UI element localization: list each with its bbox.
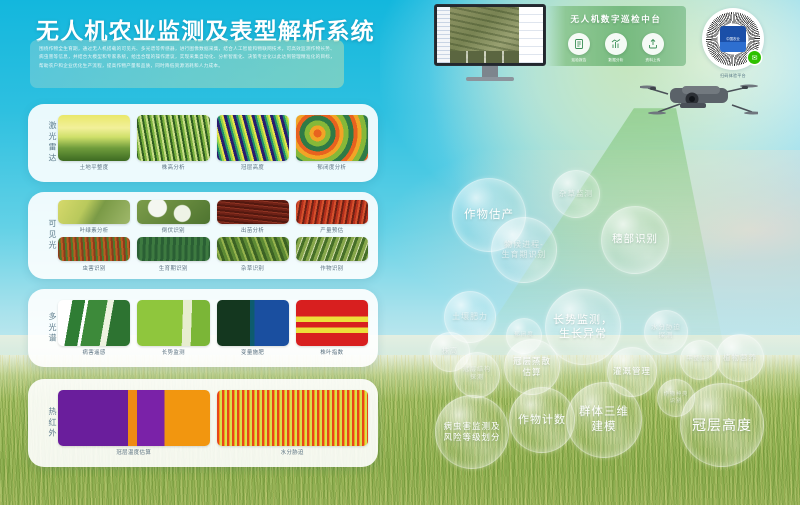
tile[interactable]: 水分胁迫 bbox=[217, 390, 369, 457]
app-sidebar bbox=[437, 7, 450, 63]
bubble-capability[interactable]: 群体三维 建模 bbox=[566, 382, 642, 458]
tile[interactable]: 土地平整度 bbox=[58, 115, 130, 172]
tile[interactable]: 株高分析 bbox=[137, 115, 209, 172]
bubble-capability[interactable]: 平整监测 bbox=[680, 340, 720, 380]
desktop-monitor bbox=[434, 4, 546, 81]
qr-center-logo: 中国农业 bbox=[720, 26, 746, 52]
banner-title: 无人机数字巡检中台 bbox=[571, 13, 662, 25]
bubble-capability[interactable]: 物候进程- 生育期识别 bbox=[491, 217, 557, 283]
tile[interactable]: 叶绿素分析 bbox=[58, 200, 130, 235]
bubble-capability[interactable]: 杂草监测 bbox=[552, 170, 600, 218]
banner-item-label: 资料上传 bbox=[645, 58, 660, 63]
tile[interactable]: 变量施肥 bbox=[217, 300, 289, 357]
thumbnail-image bbox=[296, 300, 368, 346]
bubble-capability[interactable]: 冠层高度 bbox=[680, 383, 764, 467]
tile-caption: 长势监测 bbox=[162, 348, 185, 356]
banner-icon-row: 巡检报告 数据分析 bbox=[565, 33, 667, 63]
monitor-stand-neck bbox=[482, 66, 498, 77]
banner-item-label: 巡检报告 bbox=[571, 58, 586, 63]
report-icon bbox=[568, 33, 590, 55]
tile[interactable]: 生育期识别 bbox=[137, 237, 209, 272]
bubble-label: 水分胁迫 探测 bbox=[651, 324, 681, 341]
tile-caption: 郁闭度分析 bbox=[317, 163, 346, 171]
tile-caption: 变量施肥 bbox=[241, 348, 264, 356]
thumbnail-image bbox=[58, 300, 130, 346]
bubble-capability[interactable]: 水分胁迫 探测 bbox=[644, 310, 688, 354]
panel-label: 多光谱 bbox=[28, 312, 58, 344]
bubble-capability[interactable]: 病虫害监测及 风险等级划分 bbox=[435, 395, 509, 469]
tile-row: 虫害识别 生育期识别 杂草识别 作物识别 bbox=[58, 237, 368, 272]
aerial-map-view bbox=[450, 7, 519, 63]
bubble-capability[interactable]: 植物营养 bbox=[716, 334, 764, 382]
tile-caption: 土地平整度 bbox=[80, 163, 109, 171]
thumbnail-image bbox=[137, 115, 209, 161]
banner-item-report[interactable]: 巡检报告 bbox=[565, 33, 593, 63]
thumbnail-image bbox=[296, 237, 368, 261]
tile-caption: 水分胁迫 bbox=[281, 448, 304, 456]
banner-item-label: 数据分析 bbox=[608, 58, 623, 63]
tile[interactable]: 长势监测 bbox=[137, 300, 209, 357]
panel-thermal-infrared[interactable]: 热红外 冠层温度估算 水分胁迫 bbox=[28, 379, 378, 467]
thumbnail-image bbox=[217, 200, 289, 224]
tile-row: 病害遥感 长势监测 变量施肥 株叶指数 bbox=[58, 300, 368, 357]
bubble-capability[interactable]: 穗部识别 bbox=[601, 206, 669, 274]
thumbnail-image bbox=[58, 390, 210, 446]
tile[interactable]: 冠层高度 bbox=[217, 115, 289, 172]
tile-caption: 作物识别 bbox=[320, 264, 343, 272]
tile-row: 叶绿素分析 倒伏识别 出苗分析 产量预估 bbox=[58, 200, 368, 235]
bubble-label: 穗部识别 bbox=[612, 233, 658, 247]
tile-caption: 冠层温度估算 bbox=[116, 448, 151, 456]
bubble-label: 植物营养 bbox=[723, 353, 757, 363]
bubble-capability[interactable]: 冠层蒸散 估算 bbox=[504, 339, 560, 395]
banner-item-analysis[interactable]: 数据分析 bbox=[602, 33, 630, 63]
tile[interactable]: 冠层温度估算 bbox=[58, 390, 210, 457]
panel-label: 激光雷达 bbox=[28, 121, 58, 164]
tile-caption: 出苗分析 bbox=[241, 226, 264, 234]
bubble-label: 冠层蒸散 估算 bbox=[513, 356, 551, 378]
bubble-label: 长势监测， 生长异常 bbox=[553, 313, 613, 342]
tile-caption: 生育期识别 bbox=[159, 264, 188, 272]
tile-row: 冠层温度估算 水分胁迫 bbox=[58, 390, 368, 457]
tile-caption: 病害遥感 bbox=[83, 348, 106, 356]
banner-item-upload[interactable]: 资料上传 bbox=[639, 33, 667, 63]
wechat-badge-icon: ✉ bbox=[748, 51, 761, 64]
bubble-capability[interactable]: 冠层结构 探测 bbox=[454, 352, 500, 398]
poster-canvas: 无人机农业监测及表型解析系统 围绕作物全生育期，通过无人机搭载的可见光、多光谱等… bbox=[0, 0, 800, 505]
upload-icon bbox=[642, 33, 664, 55]
chart-icon bbox=[605, 33, 627, 55]
qr-code-disc: 中国农业 ✉ bbox=[702, 8, 764, 70]
bubble-label: 作物种类 识别 bbox=[664, 391, 689, 405]
bubble-label: 灌溉管理 bbox=[613, 366, 651, 377]
tile[interactable]: 郁闭度分析 bbox=[296, 115, 368, 172]
thumbnail-image bbox=[217, 115, 289, 161]
panel-visible-light[interactable]: 可见光 叶绿素分析 倒伏识别 出苗分析 产量预估 bbox=[28, 192, 378, 279]
bubble-label: 物候进程- 生育期识别 bbox=[502, 240, 547, 261]
tile[interactable]: 杂草识别 bbox=[217, 237, 289, 272]
tile[interactable]: 作物识别 bbox=[296, 237, 368, 272]
thumbnail-image bbox=[217, 390, 369, 446]
tile[interactable]: 病害遥感 bbox=[58, 300, 130, 357]
tile-caption: 冠层高度 bbox=[241, 163, 264, 171]
bubble-label: 杂草监测 bbox=[559, 189, 593, 199]
bubble-label: 群体三维 建模 bbox=[579, 405, 629, 435]
bubble-label: 作物估产 bbox=[464, 208, 514, 223]
thumbnail-image bbox=[137, 237, 209, 261]
tile-caption: 虫害识别 bbox=[83, 264, 106, 272]
tile[interactable]: 株叶指数 bbox=[296, 300, 368, 357]
thumbnail-image bbox=[58, 200, 130, 224]
thumbnail-image bbox=[137, 200, 209, 224]
platform-banner: 无人机数字巡检中台 巡检报告 bbox=[546, 6, 686, 66]
thumbnail-image bbox=[58, 237, 130, 261]
bubble-label: 作物计数 bbox=[518, 413, 566, 427]
tile-caption: 产量预估 bbox=[320, 226, 343, 234]
panel-label: 热红外 bbox=[28, 407, 58, 439]
drone-illustration bbox=[640, 78, 758, 120]
bubble-label: 土壤肥力 bbox=[452, 312, 488, 322]
tile[interactable]: 虫害识别 bbox=[58, 237, 130, 272]
bubble-label: 平整监测 bbox=[686, 356, 713, 364]
tile-row: 土地平整度 株高分析 冠层高度 郁闭度分析 bbox=[58, 115, 368, 172]
panel-lidar[interactable]: 激光雷达 土地平整度 株高分析 冠层高度 郁闭度分析 bbox=[28, 104, 378, 182]
app-result-panel bbox=[519, 7, 543, 63]
thumbnail-image bbox=[296, 200, 368, 224]
intro-paragraph: 围绕作物全生育期，通过无人机搭载的可见光、多光谱等传感器，进行图像数据采集，结合… bbox=[30, 40, 344, 88]
qr-code-block[interactable]: 中国农业 ✉ 扫码体验平台 bbox=[700, 8, 766, 79]
panel-multispectral[interactable]: 多光谱 病害遥感 长势监测 变量施肥 株叶指数 bbox=[28, 289, 378, 367]
panel-label: 可见光 bbox=[28, 219, 58, 251]
tile[interactable]: 产量预估 bbox=[296, 200, 368, 235]
tile-caption: 叶绿素分析 bbox=[80, 226, 109, 234]
thumbnail-image bbox=[137, 300, 209, 346]
bubble-label: 株高 bbox=[442, 347, 458, 356]
tile[interactable]: 出苗分析 bbox=[217, 200, 289, 235]
thumbnail-image bbox=[296, 115, 368, 161]
tile-caption: 倒伏识别 bbox=[162, 226, 185, 234]
bubble-label: 冠层高度 bbox=[692, 416, 752, 434]
thumbnail-image bbox=[217, 237, 289, 261]
tile-caption: 株高分析 bbox=[162, 163, 185, 171]
thumbnail-image bbox=[58, 115, 130, 161]
tile[interactable]: 倒伏识别 bbox=[137, 200, 209, 235]
tile-caption: 杂草识别 bbox=[241, 264, 264, 272]
bubble-label: 病虫害监测及 风险等级划分 bbox=[443, 421, 500, 443]
tile-caption: 株叶指数 bbox=[320, 348, 343, 356]
monitor-screen[interactable] bbox=[434, 4, 546, 66]
thumbnail-image bbox=[217, 300, 289, 346]
qr-caption: 扫码体验平台 bbox=[700, 73, 766, 79]
monitor-stand-base bbox=[466, 77, 514, 81]
bubble-label: 冠层结构 探测 bbox=[463, 367, 491, 383]
